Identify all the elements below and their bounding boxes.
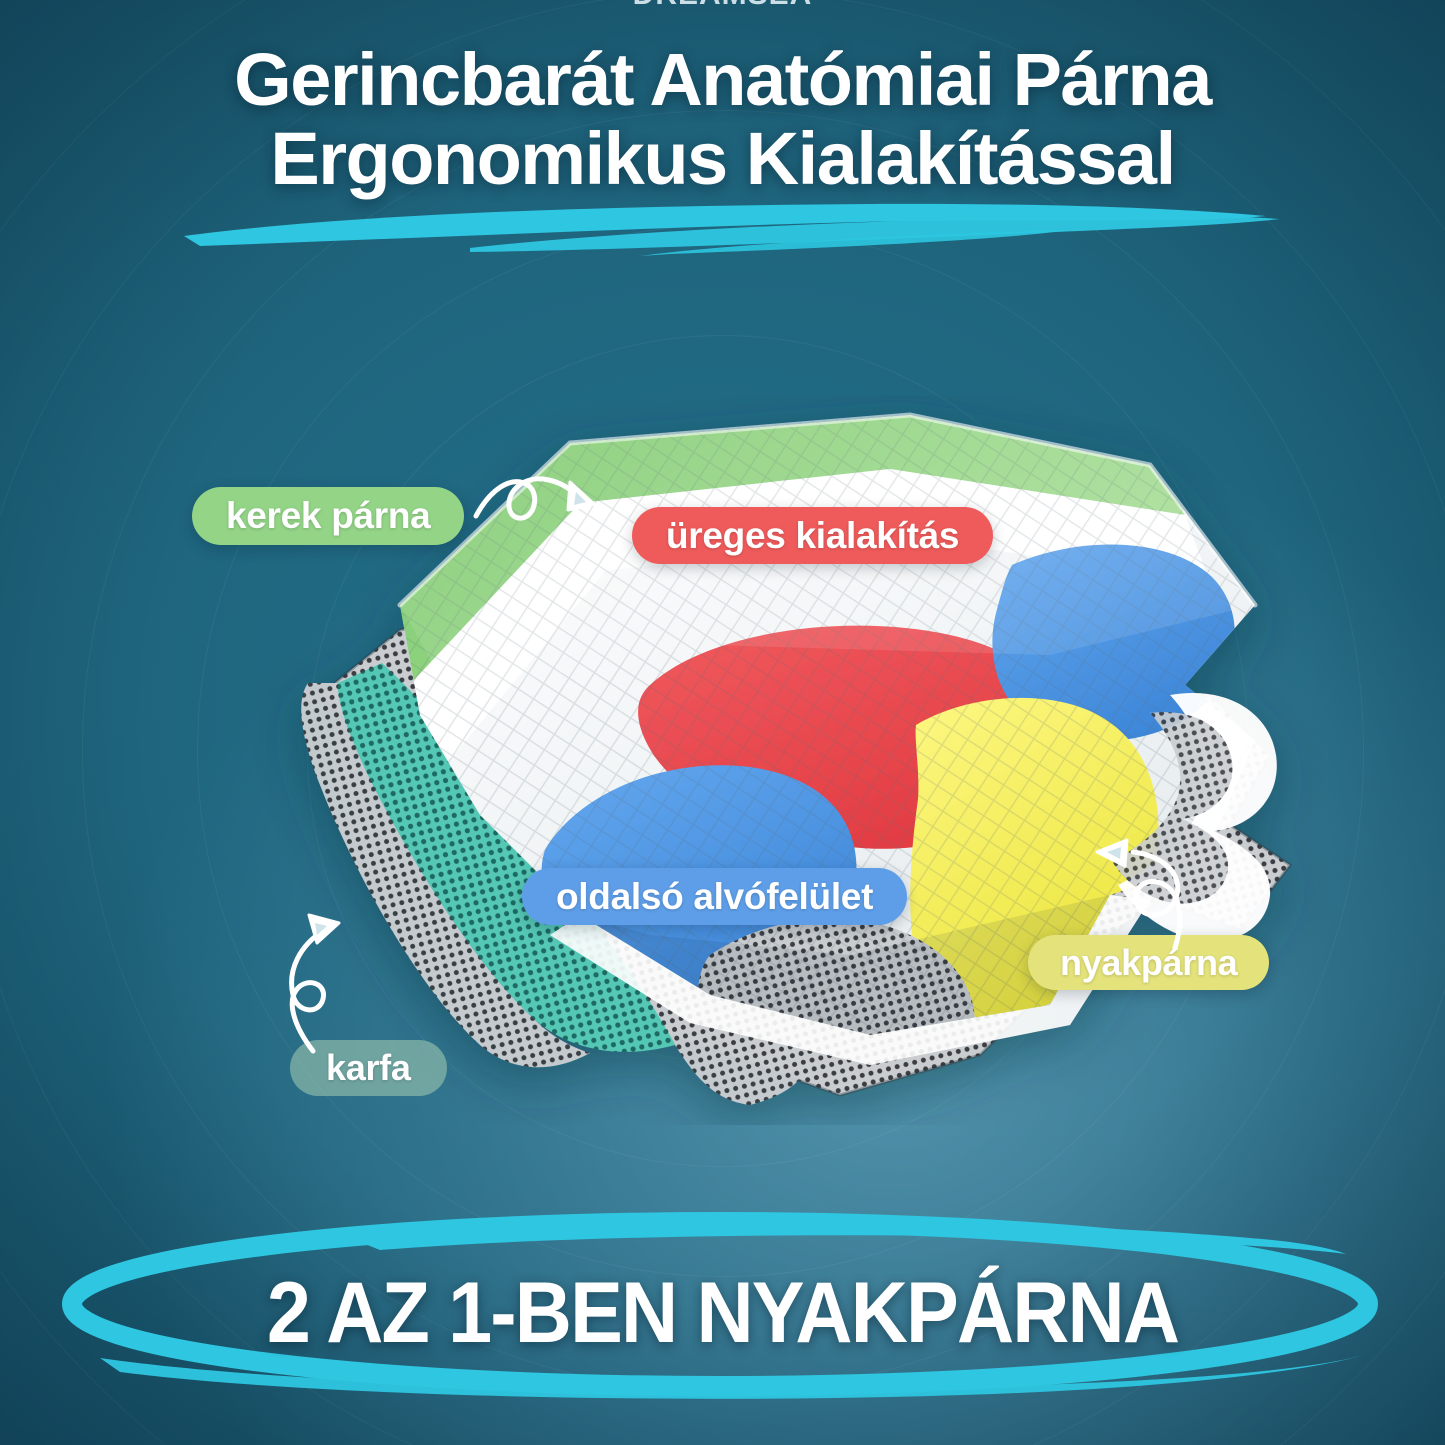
banner-headline: 2 AZ 1-BEN NYAKPÁRNA bbox=[58, 1264, 1387, 1363]
badge-kerek-parna[interactable]: kerek párna bbox=[192, 487, 464, 545]
badge-nyakparna[interactable]: nyakpárna bbox=[1028, 935, 1269, 990]
badge-ureges-kialakitas[interactable]: üreges kialakítás bbox=[632, 507, 993, 564]
footer-banner: 2 AZ 1-BEN NYAKPÁRNA bbox=[0, 1218, 1445, 1408]
title-line-1: Gerincbarát Anatómiai Párna bbox=[0, 42, 1445, 117]
page-title: Gerincbarát Anatómiai Párna Ergonomikus … bbox=[0, 42, 1445, 197]
promo-graphic: DREAMSEA Gerincbarát Anatómiai Párna Erg… bbox=[0, 0, 1445, 1445]
title-line-2: Ergonomikus Kialakítással bbox=[0, 121, 1445, 196]
title-underline-swoosh bbox=[170, 190, 1290, 260]
brand-logo-text: DREAMSEA bbox=[633, 0, 813, 12]
brand-logo: DREAMSEA bbox=[0, 0, 1445, 12]
badge-karfa[interactable]: karfa bbox=[290, 1040, 447, 1096]
badge-oldalso-alvofelulet[interactable]: oldalsó alvófelület bbox=[522, 868, 907, 925]
